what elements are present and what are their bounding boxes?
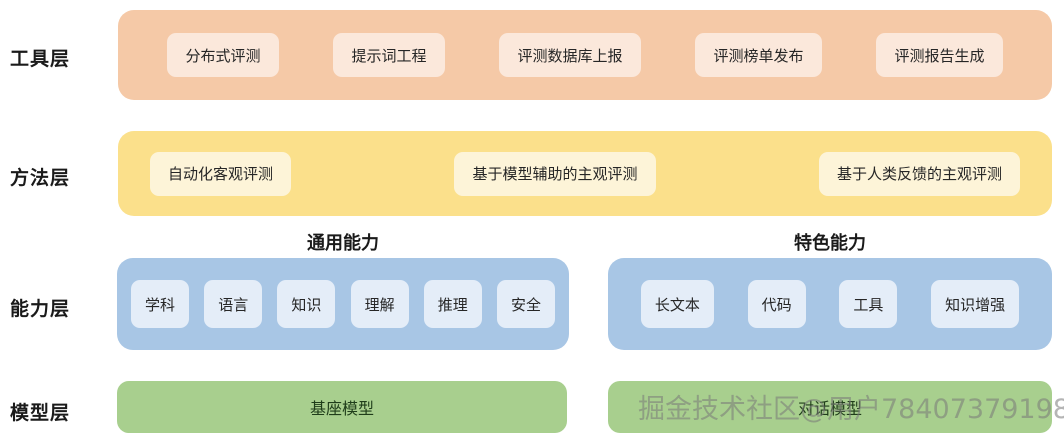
tool-chip-eval-database-report[interactable]: 评测数据库上报 <box>499 33 640 77</box>
tool-chip-eval-report-generation[interactable]: 评测报告生成 <box>876 33 1002 77</box>
ability-chip-tool[interactable]: 工具 <box>839 280 897 328</box>
row-label-method-layer: 方法层 <box>10 163 110 190</box>
tool-layer-band: 分布式评测 提示词工程 评测数据库上报 评测榜单发布 评测报告生成 <box>118 10 1052 100</box>
method-layer-band: 自动化客观评测 基于模型辅助的主观评测 基于人类反馈的主观评测 <box>118 131 1052 216</box>
method-chip-human-feedback-subjective-eval[interactable]: 基于人类反馈的主观评测 <box>819 152 1020 196</box>
ability-chip-language[interactable]: 语言 <box>204 280 262 328</box>
model-box-base-model[interactable]: 基座模型 <box>117 381 567 433</box>
model-box-chat-model[interactable]: 对话模型 <box>608 381 1052 433</box>
method-chip-model-assisted-subjective-eval[interactable]: 基于模型辅助的主观评测 <box>454 152 655 196</box>
group-heading-special-ability: 特色能力 <box>608 229 1052 255</box>
layered-architecture-diagram: 工具层 分布式评测 提示词工程 评测数据库上报 评测榜单发布 评测报告生成 方法… <box>0 0 1064 438</box>
ability-chip-reasoning[interactable]: 推理 <box>424 280 482 328</box>
row-label-ability-layer: 能力层 <box>10 294 110 321</box>
group-heading-general-ability: 通用能力 <box>117 229 569 255</box>
tool-chip-leaderboard-publish[interactable]: 评测榜单发布 <box>695 33 821 77</box>
special-ability-band: 长文本 代码 工具 知识增强 <box>608 258 1052 350</box>
row-label-tool-layer: 工具层 <box>10 44 110 71</box>
general-ability-band: 学科 语言 知识 理解 推理 安全 <box>117 258 569 350</box>
ability-chip-understanding[interactable]: 理解 <box>351 280 409 328</box>
ability-chip-safety[interactable]: 安全 <box>497 280 555 328</box>
ability-chip-subject[interactable]: 学科 <box>131 280 189 328</box>
method-chip-automated-objective-eval[interactable]: 自动化客观评测 <box>150 152 291 196</box>
tool-chip-distributed-eval[interactable]: 分布式评测 <box>167 33 278 77</box>
ability-chip-knowledge[interactable]: 知识 <box>277 280 335 328</box>
ability-chip-knowledge-augmentation[interactable]: 知识增强 <box>931 280 1019 328</box>
tool-chip-prompt-engineering[interactable]: 提示词工程 <box>333 33 444 77</box>
row-label-model-layer: 模型层 <box>10 398 110 425</box>
ability-chip-code[interactable]: 代码 <box>748 280 806 328</box>
ability-chip-long-text[interactable]: 长文本 <box>641 280 714 328</box>
